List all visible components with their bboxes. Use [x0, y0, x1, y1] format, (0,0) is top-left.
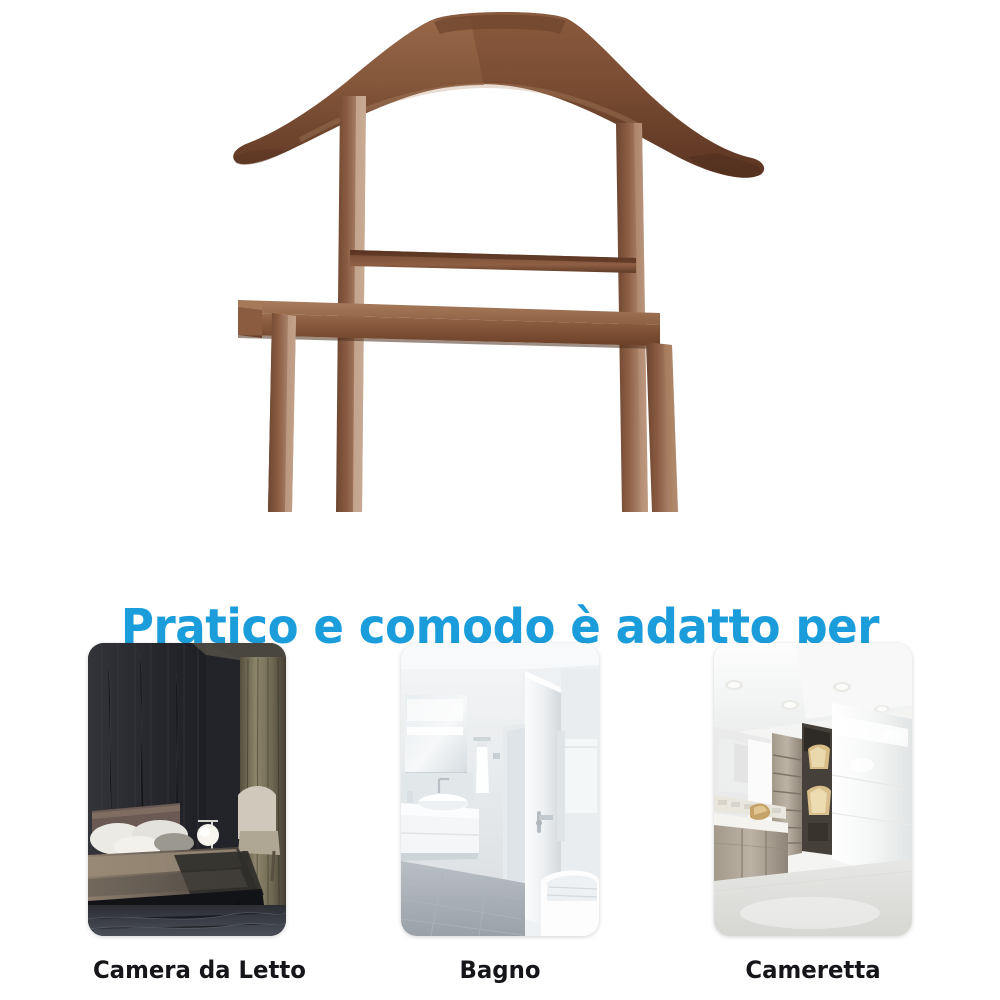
room-card-bedroom: [88, 643, 286, 936]
closet-photo: [714, 643, 912, 936]
room-card-row: [0, 643, 1000, 943]
room-caption-row: Camera da Letto Bagno Cameretta: [0, 955, 1000, 1000]
product-hero-image: [0, 0, 1000, 545]
valet-stand-illustration: [0, 0, 1000, 545]
caption-cameretta: Cameretta: [719, 955, 907, 985]
caption-bagno: Bagno: [406, 955, 594, 985]
bathroom-photo: [401, 643, 599, 936]
caption-camera-da-letto: Camera da Letto: [93, 955, 281, 985]
bedroom-photo: [88, 643, 286, 936]
room-card-closet: [714, 643, 912, 936]
room-card-bathroom: [401, 643, 599, 936]
